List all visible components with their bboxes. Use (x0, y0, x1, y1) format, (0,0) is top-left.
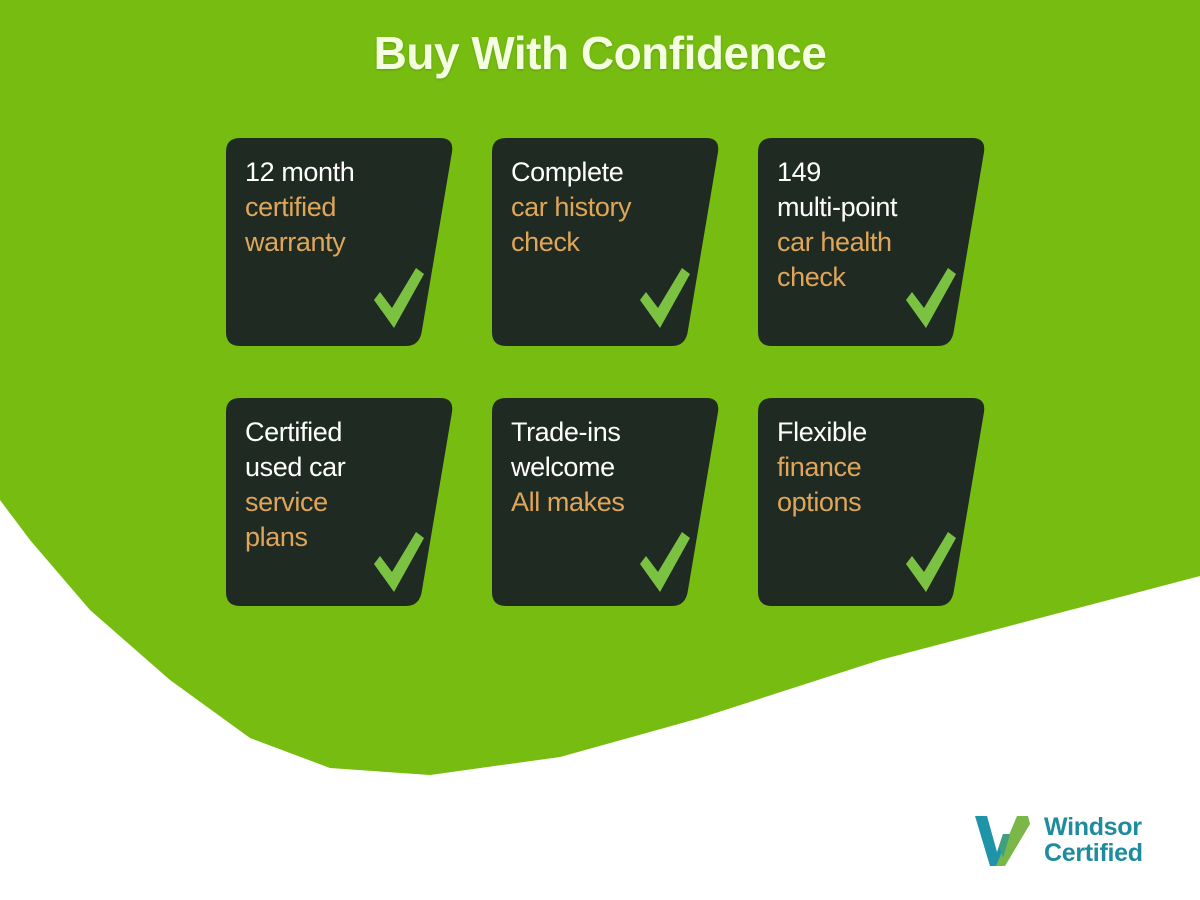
card-text-block: 12 month certified warranty (245, 155, 436, 260)
page-title: Buy With Confidence (0, 26, 1200, 80)
card-line: car history (511, 190, 702, 225)
check-icon (370, 528, 426, 598)
windsor-w-icon (972, 812, 1034, 868)
card-line: Complete (511, 155, 702, 190)
check-icon (902, 264, 958, 334)
card-line: multi-point (777, 190, 968, 225)
card-line: 149 (777, 155, 968, 190)
card-line: options (777, 485, 968, 520)
card-line: car health (777, 225, 968, 260)
card-line: check (511, 225, 702, 260)
promo-banner: Buy With Confidence 12 month certified w… (0, 0, 1200, 900)
card-line: warranty (245, 225, 436, 260)
card-line: used car (245, 450, 436, 485)
card-text-block: Trade-ins welcome All makes (511, 415, 702, 520)
check-icon (370, 264, 426, 334)
card-line: 12 month (245, 155, 436, 190)
card-text-block: Flexible finance options (777, 415, 968, 520)
feature-card-certified-warranty[interactable]: 12 month certified warranty (226, 138, 454, 346)
feature-card-finance-options[interactable]: Flexible finance options (758, 398, 986, 606)
feature-card-car-health-check[interactable]: 149 multi-point car health check (758, 138, 986, 346)
card-line: All makes (511, 485, 702, 520)
check-icon (636, 264, 692, 334)
logo-line-1: Windsor (1044, 814, 1143, 841)
card-text-block: Complete car history check (511, 155, 702, 260)
card-line: finance (777, 450, 968, 485)
feature-card-grid: 12 month certified warranty Complete car… (226, 138, 986, 658)
card-line: welcome (511, 450, 702, 485)
feature-card-row-2: Certified used car service plans Trade-i… (226, 398, 986, 606)
feature-card-trade-ins[interactable]: Trade-ins welcome All makes (492, 398, 720, 606)
feature-card-row-1: 12 month certified warranty Complete car… (226, 138, 986, 346)
card-line: Certified (245, 415, 436, 450)
card-line: Flexible (777, 415, 968, 450)
feature-card-service-plans[interactable]: Certified used car service plans (226, 398, 454, 606)
check-icon (902, 528, 958, 598)
windsor-certified-logo: Windsor Certified (972, 812, 1143, 868)
check-icon (636, 528, 692, 598)
card-line: Trade-ins (511, 415, 702, 450)
logo-line-2: Certified (1044, 840, 1143, 867)
card-line: service (245, 485, 436, 520)
card-line: certified (245, 190, 436, 225)
logo-wordmark: Windsor Certified (1044, 814, 1143, 867)
feature-card-car-history-check[interactable]: Complete car history check (492, 138, 720, 346)
